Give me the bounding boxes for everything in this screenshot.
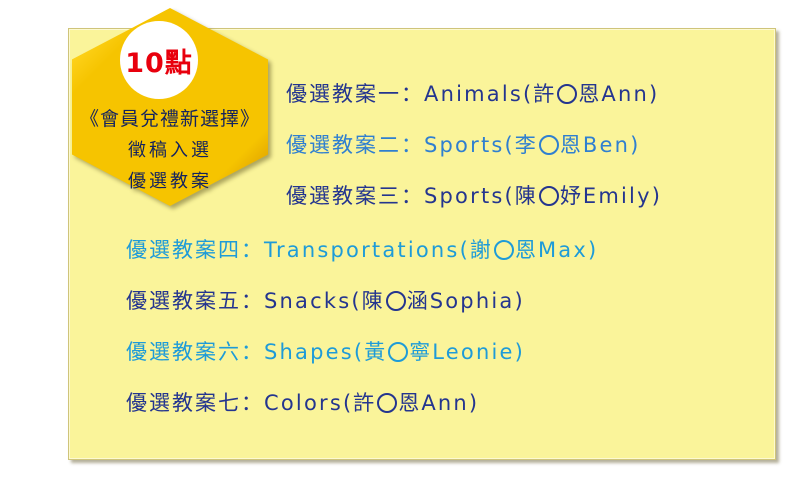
award-surname: 李 <box>515 133 538 157</box>
award-open-paren: ( <box>505 133 515 157</box>
badge-subtitle-1: 徵稿入選 <box>72 136 268 162</box>
award-line-2: 優選教案二：Sports(李恩Ben) <box>286 135 640 156</box>
award-given-name: 妤 <box>560 184 583 208</box>
award-line-6: 優選教案六：Shapes(黃寧Leonie) <box>126 342 525 363</box>
award-topic: Animals <box>424 82 523 106</box>
poster-canvas: 優選教案一：Animals(許恩Ann) 優選教案二：Sports(李恩Ben)… <box>0 0 800 480</box>
award-prefix: 優選教案一： <box>286 82 424 106</box>
award-open-paren: ( <box>343 391 353 415</box>
award-open-paren: ( <box>351 289 361 313</box>
redaction-circle-icon <box>388 342 408 362</box>
badge-title: 《會員兌禮新選擇》 <box>72 104 268 131</box>
award-open-paren: ( <box>523 82 533 106</box>
award-line-5: 優選教案五：Snacks(陳涵Sophia) <box>126 291 525 312</box>
award-prefix: 優選教案六： <box>126 340 264 364</box>
award-prefix: 優選教案三： <box>286 184 424 208</box>
award-topic: Snacks <box>264 289 351 313</box>
badge-subtitle-2: 優選教案 <box>72 167 268 193</box>
award-surname: 許 <box>533 82 556 106</box>
points-badge: 10點 《會員兌禮新選擇》 徵稿入選 優選教案 <box>72 8 268 206</box>
award-close-paren: ) <box>515 340 525 364</box>
award-given-name: 涵 <box>407 289 430 313</box>
award-surname: 陳 <box>515 184 538 208</box>
award-line-3: 優選教案三：Sports(陳妤Emily) <box>286 186 662 207</box>
award-given-name: 恩 <box>515 238 538 262</box>
award-prefix: 優選教案七： <box>126 391 264 415</box>
badge-text-block: 《會員兌禮新選擇》 徵稿入選 優選教案 <box>72 104 268 193</box>
award-english-name: Emily <box>583 184 652 208</box>
award-surname: 黃 <box>364 340 387 364</box>
redaction-circle-icon <box>539 186 559 206</box>
award-line-4: 優選教案四：Transportations(謝恩Max) <box>126 240 598 261</box>
award-english-name: Ben <box>583 133 630 157</box>
award-close-paren: ) <box>630 133 640 157</box>
award-open-paren: ( <box>354 340 364 364</box>
redaction-circle-icon <box>377 393 397 413</box>
redaction-circle-icon <box>557 84 577 104</box>
award-topic: Sports <box>424 184 505 208</box>
award-close-paren: ) <box>649 82 659 106</box>
redaction-circle-icon <box>386 291 406 311</box>
award-english-name: Ann <box>421 391 469 415</box>
award-english-name: Max <box>538 238 588 262</box>
redaction-circle-icon <box>494 240 514 260</box>
award-english-name: Leonie <box>432 340 514 364</box>
award-open-paren: ( <box>505 184 515 208</box>
award-topic: Colors <box>264 391 343 415</box>
award-close-paren: ) <box>514 289 524 313</box>
award-close-paren: ) <box>652 184 662 208</box>
award-prefix: 優選教案五： <box>126 289 264 313</box>
award-given-name: 恩 <box>560 133 583 157</box>
redaction-circle-icon <box>539 135 559 155</box>
award-line-7: 優選教案七：Colors(許恩Ann) <box>126 393 479 414</box>
award-surname: 許 <box>353 391 376 415</box>
award-english-name: Sophia <box>430 289 515 313</box>
award-close-paren: ) <box>469 391 479 415</box>
award-surname: 謝 <box>470 238 493 262</box>
award-topic: Sports <box>424 133 505 157</box>
award-given-name: 恩 <box>398 391 421 415</box>
award-surname: 陳 <box>362 289 385 313</box>
award-given-name: 恩 <box>578 82 601 106</box>
award-close-paren: ) <box>588 238 598 262</box>
points-label: 10點 <box>120 21 198 99</box>
award-topic: Transportations <box>264 238 460 262</box>
award-line-1: 優選教案一：Animals(許恩Ann) <box>286 84 659 105</box>
award-english-name: Ann <box>601 82 649 106</box>
award-topic: Shapes <box>264 340 354 364</box>
award-prefix: 優選教案二： <box>286 133 424 157</box>
award-open-paren: ( <box>460 238 470 262</box>
award-prefix: 優選教案四： <box>126 238 264 262</box>
award-given-name: 寧 <box>409 340 432 364</box>
